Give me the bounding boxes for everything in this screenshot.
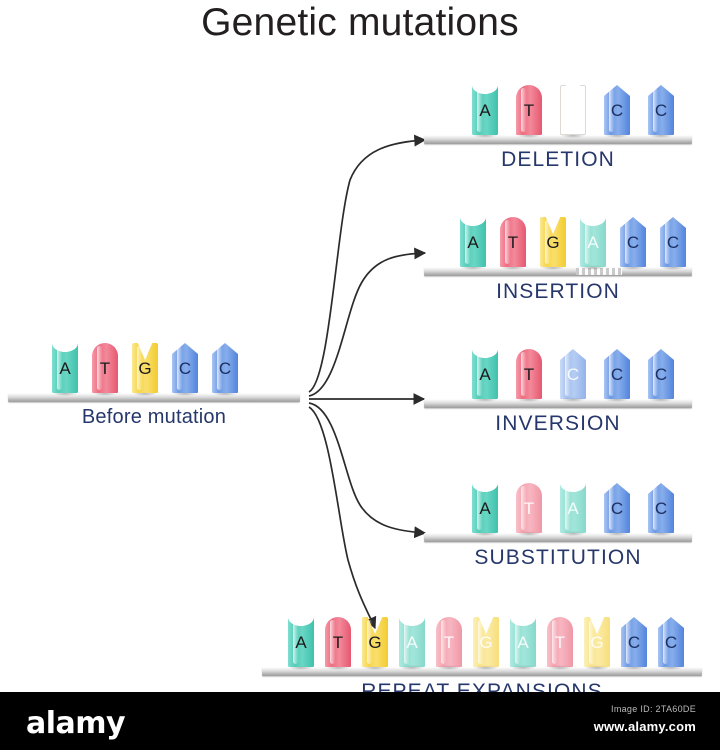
base-letter: A (472, 366, 498, 383)
base-c: C (604, 85, 630, 135)
base-c: C (604, 483, 630, 533)
base-c: C (648, 483, 674, 533)
base-c: C (620, 217, 646, 267)
base-a: A (560, 483, 586, 533)
base-letter: A (460, 234, 486, 251)
backbone-insertion-gap (576, 268, 622, 275)
base-letter: C (621, 634, 647, 651)
base-letter: T (516, 102, 542, 119)
base-c: C (648, 85, 674, 135)
base-a: A (472, 483, 498, 533)
base-g: G (540, 217, 566, 267)
base-row: ATCCC (424, 346, 692, 399)
base-letter: C (604, 366, 630, 383)
base-g: G (584, 617, 610, 667)
base-letter: A (510, 634, 536, 651)
base-row: ATGACC (424, 214, 692, 267)
arrow-to-repeat (309, 407, 375, 628)
backbone (424, 399, 692, 408)
page-title: Genetic mutations (0, 0, 720, 46)
alamy-logo: alamy (26, 706, 125, 741)
base-a: A (399, 617, 425, 667)
base-c: C (658, 617, 684, 667)
diagram-canvas: Genetic mutations ATGCC Before mutation … (0, 0, 720, 750)
strand-label: INVERSION (424, 412, 692, 436)
base-a: A (460, 217, 486, 267)
base-t: T (516, 483, 542, 533)
base-letter: T (92, 360, 118, 377)
base-letter: T (500, 234, 526, 251)
base-c: C (648, 349, 674, 399)
backbone (424, 135, 692, 144)
base-a: A (472, 85, 498, 135)
base-letter: C (648, 366, 674, 383)
base-letter: A (288, 634, 314, 651)
base-letter: T (325, 634, 351, 651)
base-letter: C (658, 634, 684, 651)
base-c: C (604, 349, 630, 399)
base-letter: C (172, 360, 198, 377)
base-letter: C (648, 500, 674, 517)
arrow-to-insertion (309, 253, 425, 396)
base-letter: G (362, 634, 388, 651)
base-letter: T (516, 500, 542, 517)
base-letter: C (660, 234, 686, 251)
strand-label: SUBSTITUTION (424, 546, 692, 570)
strand-label: DELETION (424, 148, 692, 172)
base-t: T (516, 349, 542, 399)
base-letter: G (584, 634, 610, 651)
base-c: C (560, 349, 586, 399)
base-letter: C (604, 500, 630, 517)
arrow-to-substitution (309, 403, 425, 533)
base-a: A (580, 217, 606, 267)
base-g: G (132, 343, 158, 393)
base-letter: C (604, 102, 630, 119)
image-id-text: Image ID: 2TA60DE (611, 704, 696, 714)
base-letter: A (580, 234, 606, 251)
strand-label: Before mutation (8, 406, 300, 429)
base-row: ATACC (424, 480, 692, 533)
base-row: ATGATGATGCC (262, 614, 702, 667)
base-row: ATGCC (8, 340, 300, 393)
base-letter: T (516, 366, 542, 383)
arrow-to-deletion (309, 140, 425, 392)
base-letter: C (212, 360, 238, 377)
base-t: T (436, 617, 462, 667)
base-t: T (547, 617, 573, 667)
backbone (262, 667, 702, 676)
base-g: G (473, 617, 499, 667)
base-t: T (500, 217, 526, 267)
base-row: ATCC (424, 82, 692, 135)
base-a: A (288, 617, 314, 667)
base-a: A (52, 343, 78, 393)
backbone (8, 393, 300, 402)
base-body (560, 85, 586, 135)
backbone (424, 533, 692, 542)
base-letter: G (473, 634, 499, 651)
base-c: C (212, 343, 238, 393)
base-empty (560, 85, 586, 135)
base-letter: T (436, 634, 462, 651)
alamy-url[interactable]: www.alamy.com (594, 719, 696, 734)
base-letter: A (472, 500, 498, 517)
base-letter: A (52, 360, 78, 377)
base-c: C (172, 343, 198, 393)
base-letter: G (540, 234, 566, 251)
base-letter: A (399, 634, 425, 651)
base-letter: C (648, 102, 674, 119)
watermark-bar: alamy Image ID: 2TA60DE www.alamy.com (0, 692, 720, 750)
base-letter: A (560, 500, 586, 517)
base-c: C (660, 217, 686, 267)
base-letter: T (547, 634, 573, 651)
base-a: A (510, 617, 536, 667)
base-a: A (472, 349, 498, 399)
backbone (424, 267, 692, 276)
base-letter: C (560, 366, 586, 383)
base-letter: A (472, 102, 498, 119)
base-letter: G (132, 360, 158, 377)
base-g: G (362, 617, 388, 667)
base-t: T (92, 343, 118, 393)
base-letter: C (620, 234, 646, 251)
base-t: T (516, 85, 542, 135)
strand-label: INSERTION (424, 280, 692, 304)
base-c: C (621, 617, 647, 667)
base-t: T (325, 617, 351, 667)
